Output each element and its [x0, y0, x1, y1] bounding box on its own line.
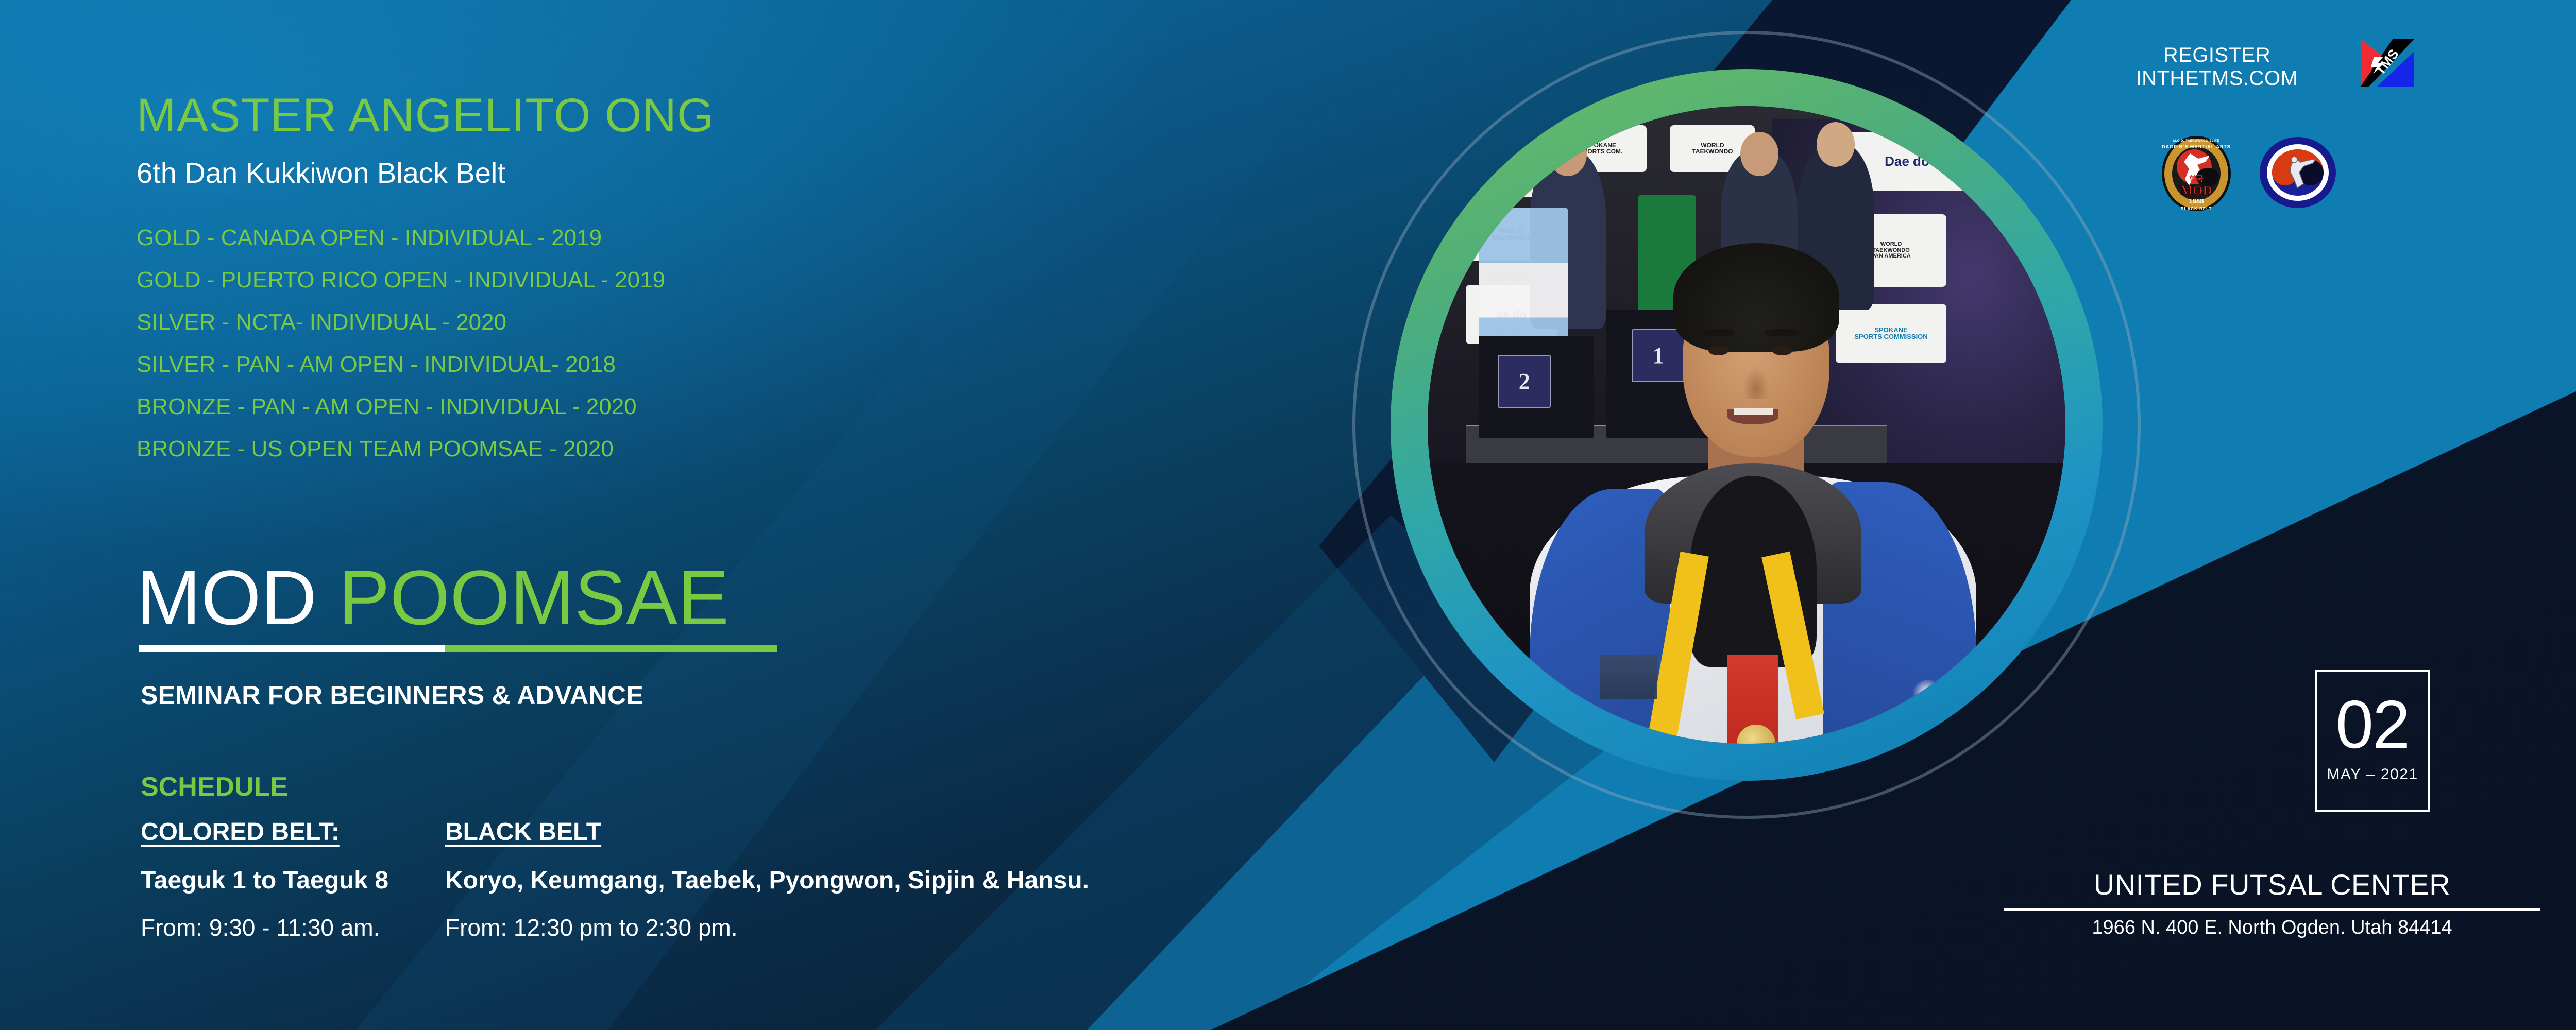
photo-chest-logo	[1912, 680, 1944, 712]
schedule-label: SCHEDULE	[141, 774, 288, 800]
photo-background-person-head	[1817, 122, 1855, 167]
event-month-year: MAY – 2021	[2327, 766, 2418, 783]
achievements-list: GOLD - CANADA OPEN - INDIVIDUAL - 2019 G…	[137, 227, 665, 480]
photo-podium-number: 1	[1632, 329, 1685, 382]
register-label: REGISTER	[2104, 44, 2330, 67]
venue-block: UNITED FUTSAL CENTER 1966 N. 400 E. Nort…	[2004, 870, 2540, 937]
register-block[interactable]: REGISTER INTHETMS.COM	[2104, 44, 2330, 90]
photo-subject-eye	[1772, 346, 1793, 355]
event-title-underline	[139, 645, 777, 652]
photo-subject-teeth	[1734, 408, 1773, 416]
photo-banner: SPOKANESPORTS COMMISSION	[1836, 304, 1946, 363]
schedule-time: From: 9:30 - 11:30 am.	[141, 916, 388, 939]
photo-subject-brow	[1702, 329, 1734, 336]
achievement-item: BRONZE - US OPEN TEAM POOMSAE - 2020	[137, 438, 665, 460]
photo-subject-brow	[1766, 329, 1798, 336]
photo-background-person-head	[1549, 132, 1587, 177]
achievement-item: SILVER - PAN - AM OPEN - INDIVIDUAL- 201…	[137, 353, 665, 376]
event-date-box: 02 MAY – 2021	[2315, 669, 2430, 812]
achievement-item: GOLD - PUERTO RICO OPEN - INDIVIDUAL - 2…	[137, 269, 665, 291]
event-day: 02	[2336, 695, 2410, 754]
taekwondo-emblem-icon	[2259, 136, 2336, 209]
schedule-column-black-belt: BLACK BELT Koryo, Keumgang, Taebek, Pyon…	[445, 820, 1089, 939]
svg-text:M.O.D. TAEKWONDO ELITE: M.O.D. TAEKWONDO ELITE	[2173, 140, 2219, 143]
master-photo-circle: WT SPOKANESPORTS COM. WORLDTAEKWONDO Dae…	[1352, 31, 2141, 819]
photo-podium-number: 2	[1498, 355, 1551, 408]
master-subtitle: 6th Dan Kukkiwon Black Belt	[137, 159, 505, 187]
schedule-forms: Koryo, Keumgang, Taebek, Pyongwon, Sipji…	[445, 868, 1089, 893]
photo-subject-nose	[1743, 368, 1769, 400]
event-poster: WT SPOKANESPORTS COM. WORLDTAEKWONDO Dae…	[0, 0, 2576, 1030]
event-subtitle: SEMINAR FOR BEGINNERS & ADVANCE	[141, 682, 643, 708]
achievement-item: SILVER - NCTA- INDIVIDUAL - 2020	[137, 311, 665, 334]
schedule-column-colored-belt: COLORED BELT: Taeguk 1 to Taeguk 8 From:…	[141, 820, 388, 939]
event-title-mod: MOD	[137, 554, 338, 641]
achievement-item: GOLD - CANADA OPEN - INDIVIDUAL - 2019	[137, 227, 665, 249]
mod-martial-arts-badge-icon: 한국 MOD 1988 BLACK BELT M.O.D. TAEKWONDO …	[2160, 135, 2232, 212]
achievement-item: BRONZE - PAN - AM OPEN - INDIVIDUAL - 20…	[137, 396, 665, 418]
venue-divider	[2004, 908, 2540, 911]
photo-subject-eye	[1708, 346, 1729, 355]
svg-text:한국: 한국	[2189, 175, 2204, 183]
page-title: MASTER ANGELITO ONG	[137, 92, 715, 139]
register-url[interactable]: INTHETMS.COM	[2104, 67, 2330, 90]
svg-text:DAGPIN'S MARTIAL ARTS: DAGPIN'S MARTIAL ARTS	[2162, 144, 2231, 149]
tms-logo-icon: TMS	[2359, 37, 2416, 89]
schedule-columns: COLORED BELT: Taeguk 1 to Taeguk 8 From:…	[141, 820, 1089, 939]
schedule-time: From: 12:30 pm to 2:30 pm.	[445, 916, 1089, 939]
schedule-heading: COLORED BELT:	[141, 820, 388, 845]
schedule-heading: BLACK BELT	[445, 820, 1089, 845]
photo-background-person-head	[1740, 132, 1778, 177]
svg-text:MOD: MOD	[2180, 184, 2212, 198]
event-title: MOD POOMSAE	[137, 559, 729, 636]
venue-name: UNITED FUTSAL CENTER	[2004, 870, 2540, 899]
event-title-poomsae: POOMSAE	[338, 554, 730, 641]
schedule-forms: Taeguk 1 to Taeguk 8	[141, 868, 388, 893]
svg-text:1988: 1988	[2189, 197, 2204, 205]
master-portrait-photo: WT SPOKANESPORTS COM. WORLDTAEKWONDO Dae…	[1428, 106, 2065, 744]
photo-subject-hair	[1673, 243, 1839, 351]
photo-sleeve-mark	[1600, 655, 1657, 699]
svg-text:BLACK BELT: BLACK BELT	[2181, 207, 2212, 211]
venue-address: 1966 N. 400 E. North Ogden. Utah 84414	[2004, 918, 2540, 937]
photo-banner: WT	[1453, 138, 1538, 197]
